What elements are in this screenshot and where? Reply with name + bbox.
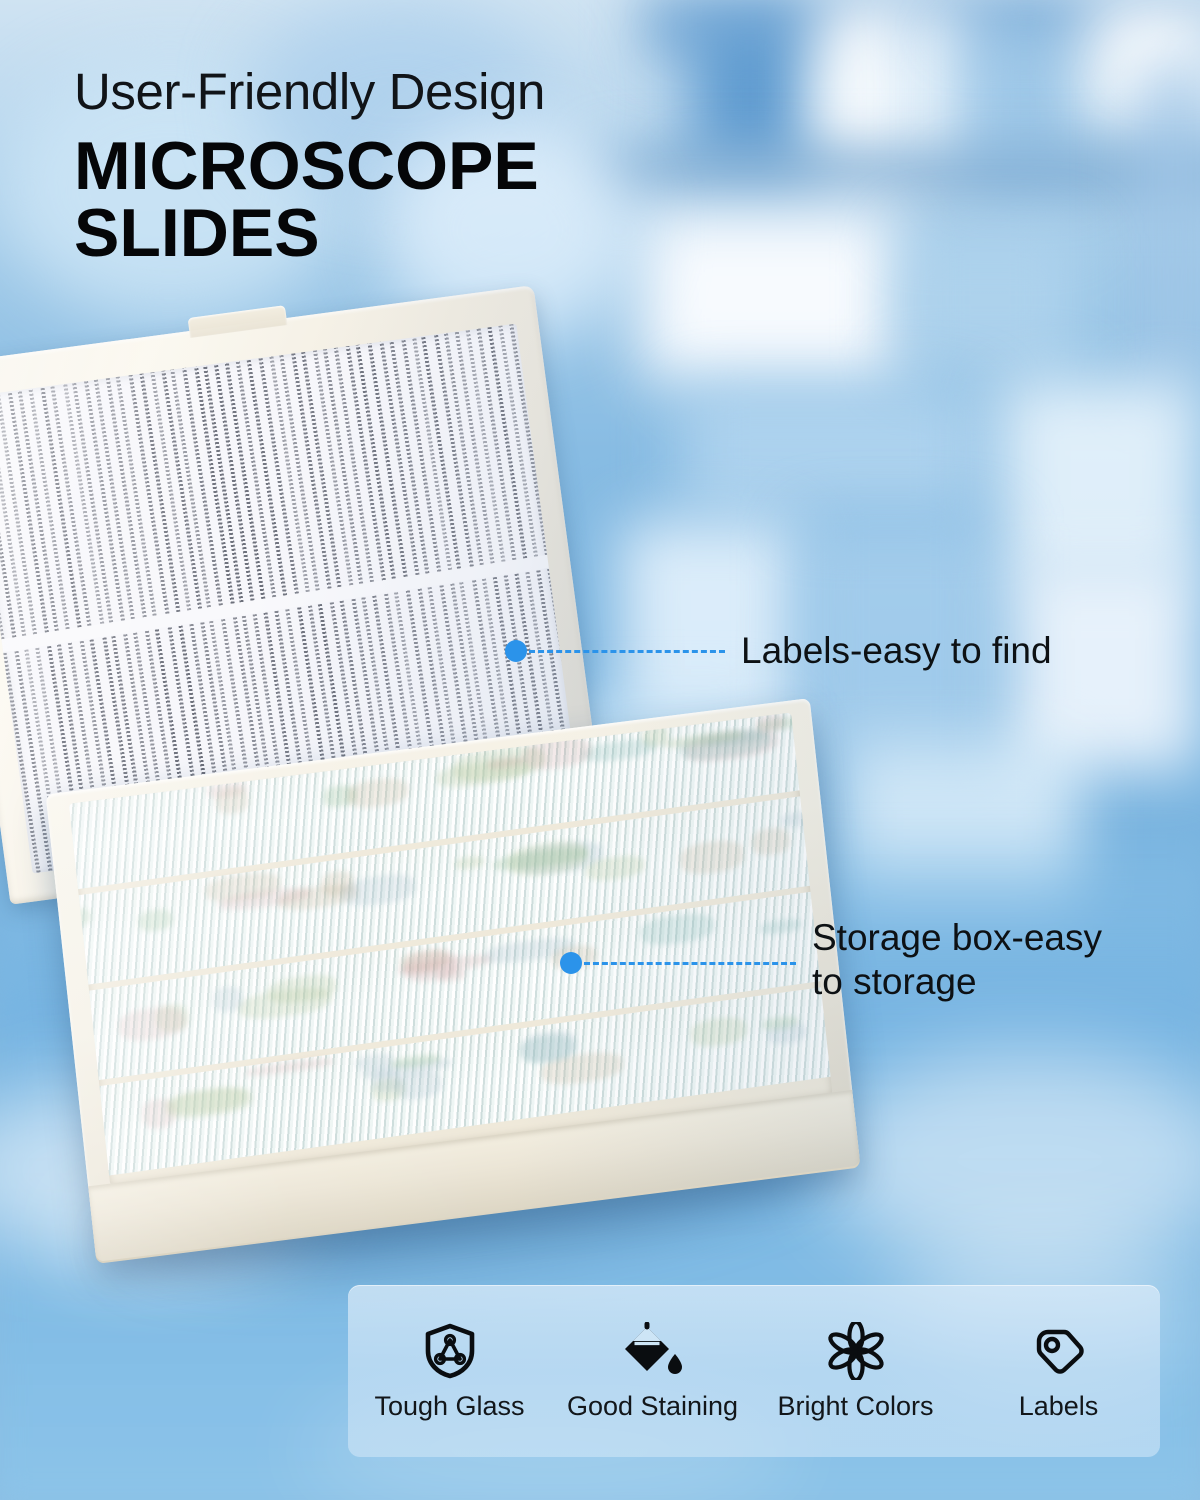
callout-dot-storage [560,952,582,974]
feature-label-labels: Labels [1019,1393,1099,1420]
feature-good-staining: Good Staining [551,1323,754,1420]
feature-bar: Tough Glass Good Staining [348,1285,1160,1457]
product-photo-slide-box [0,300,900,1260]
callout-storage: Storage box-easy to storage [560,922,1102,1005]
page-title: MICROSCOPE SLIDES [74,133,545,266]
shield-molecule-icon [424,1323,476,1379]
feature-tough-glass: Tough Glass [348,1323,551,1420]
tag-icon [1031,1323,1087,1379]
callout-leader-line-storage [584,962,796,965]
kicker-text: User-Friendly Design [74,66,545,117]
feature-bright-colors: Bright Colors [754,1323,957,1420]
callout-labels: Labels-easy to find [505,629,1052,673]
title-line-1: MICROSCOPE [74,133,545,200]
feature-labels: Labels [957,1323,1160,1420]
feature-label-good-staining: Good Staining [567,1393,738,1420]
title-line-2: SLIDES [74,200,545,267]
product-marketing-image: User-Friendly Design MICROSCOPE SLIDES [0,0,1200,1500]
callout-label-labels: Labels-easy to find [741,629,1052,673]
callout-leader-line-labels [529,650,725,653]
feature-label-tough-glass: Tough Glass [374,1393,524,1420]
callout-dot-labels [505,640,527,662]
feature-label-bright-colors: Bright Colors [777,1393,933,1420]
flower-petals-icon [827,1323,885,1379]
paint-bucket-drop-icon [622,1323,684,1379]
headline-block: User-Friendly Design MICROSCOPE SLIDES [74,66,545,266]
callout-label-storage: Storage box-easy to storage [812,916,1102,1005]
